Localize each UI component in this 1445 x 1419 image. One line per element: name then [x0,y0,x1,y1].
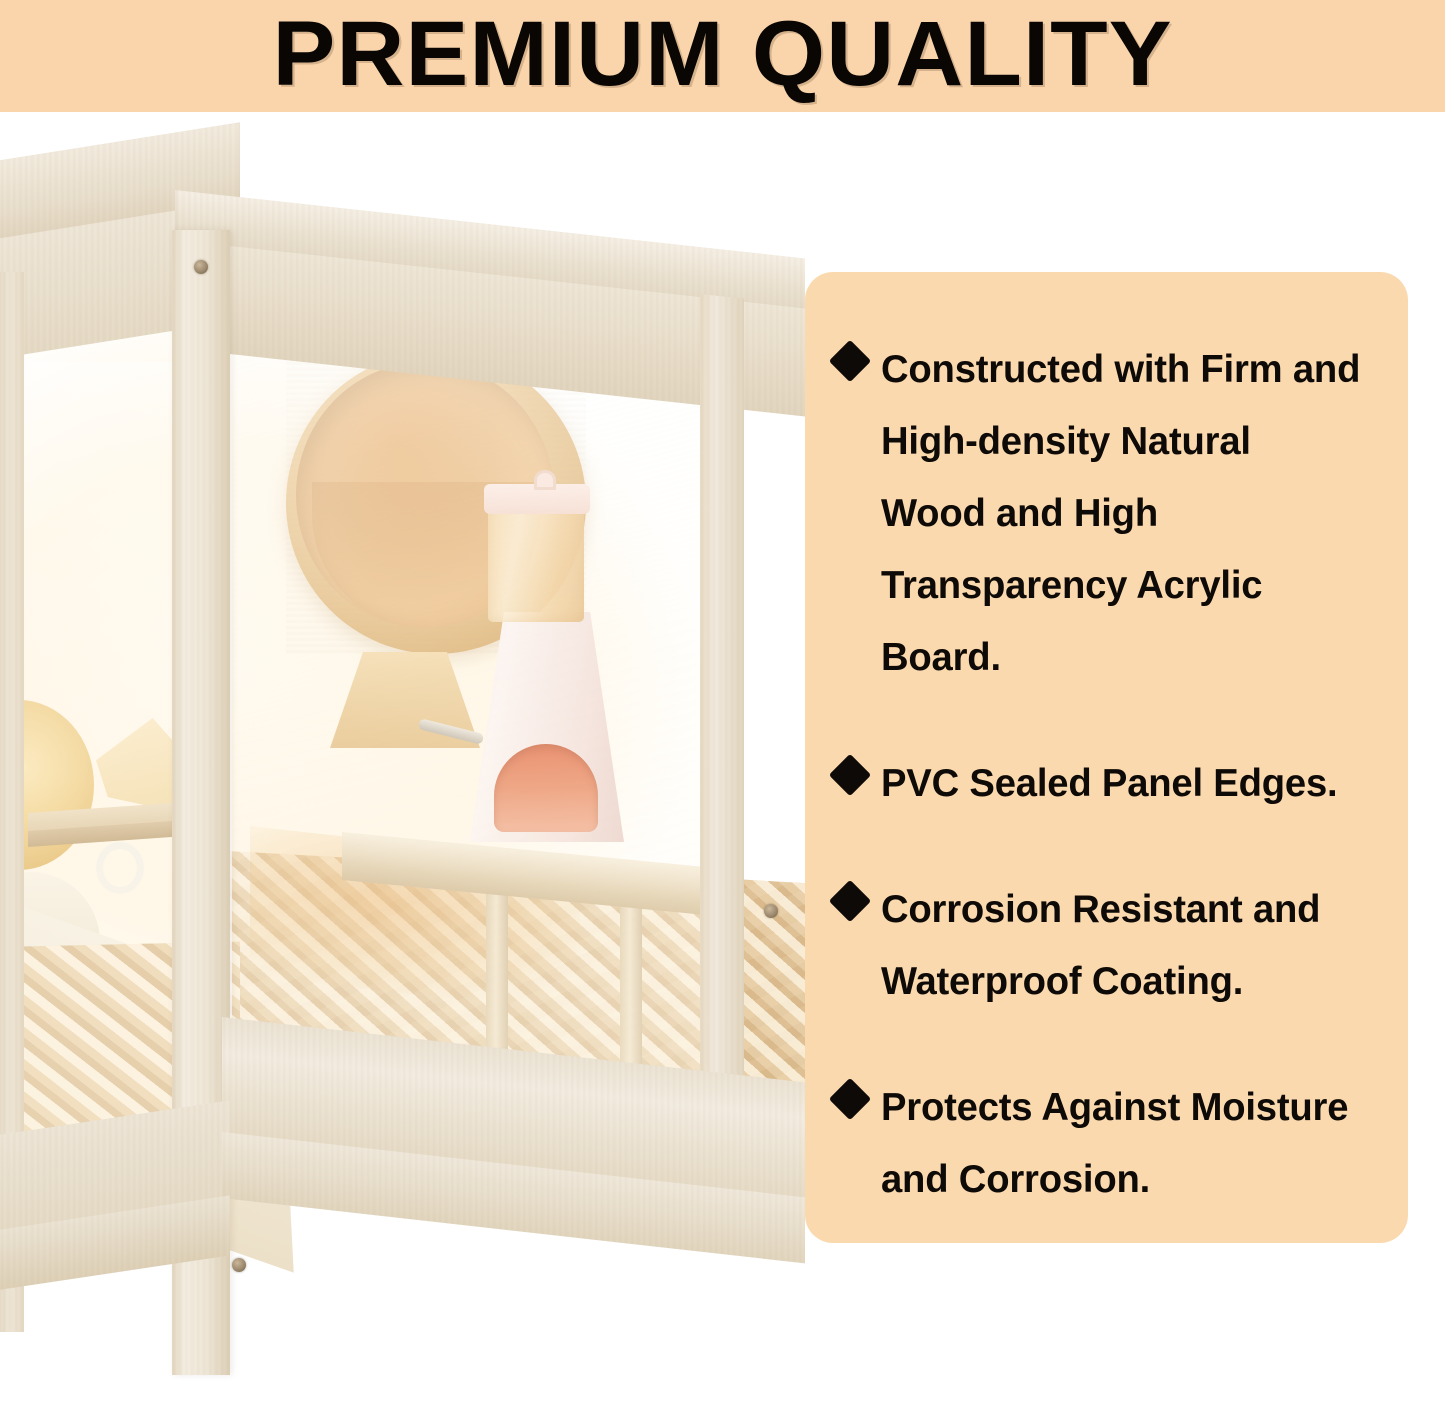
feature-text: Constructed with Firm and High-density N… [881,334,1364,694]
feature-item: Constructed with Firm and High-density N… [835,334,1374,694]
feature-item: Corrosion Resistant and Waterproof Coati… [835,874,1374,1018]
acrylic-panel-front [230,308,705,1120]
screw-icon [232,1258,246,1272]
diamond-bullet-icon [829,1078,871,1120]
feature-text: Protects Against Moisture and Corrosion. [881,1072,1364,1216]
product-photo: EXE [0,112,805,1419]
screw-icon [194,260,208,274]
feature-panel: Constructed with Firm and High-density N… [805,272,1408,1243]
feature-item: Protects Against Moisture and Corrosion. [835,1072,1374,1216]
diamond-bullet-icon [829,880,871,922]
frame-post-right [700,294,744,1119]
acrylic-panel-left [12,362,174,1152]
screw-icon [764,904,778,918]
feature-list: Constructed with Firm and High-density N… [835,334,1374,1216]
diamond-bullet-icon [829,340,871,382]
page-title: PREMIUM QUALITY [272,8,1172,104]
diamond-bullet-icon [829,754,871,796]
feature-item: PVC Sealed Panel Edges. [835,748,1374,820]
header-banner: PREMIUM QUALITY [0,0,1445,112]
feature-text: PVC Sealed Panel Edges. [881,748,1337,820]
feature-text: Corrosion Resistant and Waterproof Coati… [881,874,1364,1018]
